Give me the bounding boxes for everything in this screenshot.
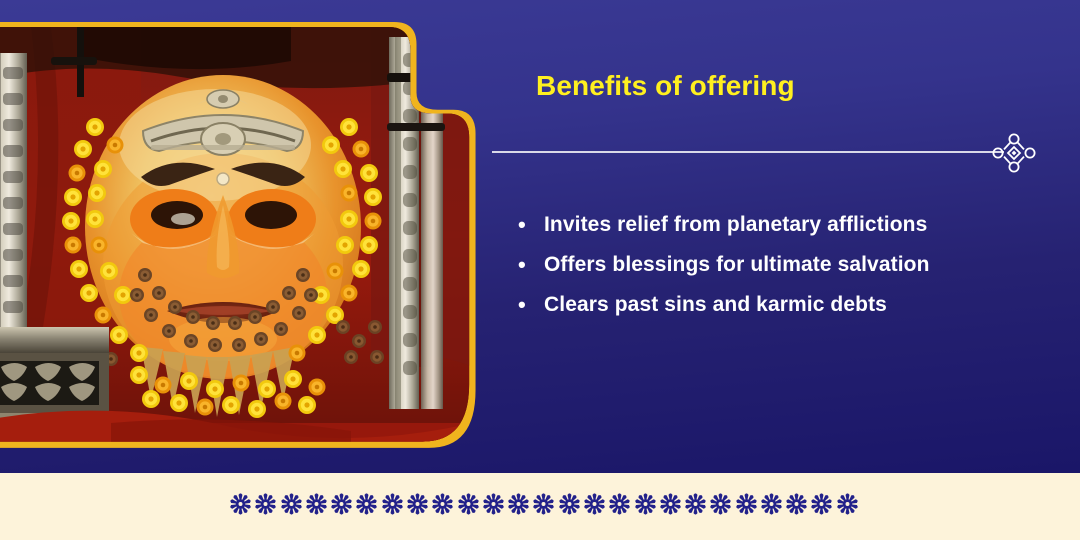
flower-ornament-icon bbox=[835, 489, 860, 519]
flower-border-band bbox=[228, 487, 860, 521]
list-item: • Clears past sins and karmic debts bbox=[518, 285, 1018, 325]
list-item-label: Clears past sins and karmic debts bbox=[544, 285, 1018, 325]
divider bbox=[492, 140, 1052, 164]
carved-silver-base bbox=[0, 327, 109, 423]
flower-ornament-icon bbox=[405, 489, 430, 519]
flower-ornament-icon bbox=[784, 489, 809, 519]
bullet-icon: • bbox=[518, 285, 544, 325]
flower-ornament-icon bbox=[354, 489, 379, 519]
flower-ornament-icon bbox=[759, 489, 784, 519]
list-item: • Invites relief from planetary afflicti… bbox=[518, 205, 1018, 245]
flower-ornament-icon bbox=[734, 489, 759, 519]
flower-ornament-icon bbox=[380, 489, 405, 519]
quatrefoil-knot-ornament-icon bbox=[992, 133, 1036, 173]
benefits-list: • Invites relief from planetary afflicti… bbox=[518, 205, 1018, 325]
flower-ornament-icon bbox=[329, 489, 354, 519]
flower-ornament-icon bbox=[228, 489, 253, 519]
flower-ornament-icon bbox=[506, 489, 531, 519]
flower-ornament-icon bbox=[279, 489, 304, 519]
slide-canvas: Benefits of offering • Invites relief fr… bbox=[0, 0, 1080, 540]
flower-ornament-icon bbox=[658, 489, 683, 519]
flower-ornament-icon bbox=[582, 489, 607, 519]
flower-ornament-icon bbox=[253, 489, 278, 519]
page-title: Benefits of offering bbox=[536, 70, 795, 102]
photo-image bbox=[0, 27, 473, 445]
list-item: • Offers blessings for ultimate salvatio… bbox=[518, 245, 1018, 285]
divider-line bbox=[492, 151, 1004, 153]
flower-ornament-icon bbox=[809, 489, 834, 519]
flower-ornament-icon bbox=[481, 489, 506, 519]
list-item-label: Offers blessings for ultimate salvation bbox=[544, 245, 1018, 285]
deity-idol-illustration bbox=[0, 27, 473, 445]
bullet-icon: • bbox=[518, 245, 544, 285]
flower-ornament-icon bbox=[633, 489, 658, 519]
flower-ornament-icon bbox=[607, 489, 632, 519]
flower-ornament-icon bbox=[683, 489, 708, 519]
flower-ornament-icon bbox=[430, 489, 455, 519]
flower-ornament-icon bbox=[557, 489, 582, 519]
flower-ornament-icon bbox=[304, 489, 329, 519]
photo-card bbox=[0, 22, 478, 450]
list-item-label: Invites relief from planetary affliction… bbox=[544, 205, 1018, 245]
flower-ornament-icon bbox=[531, 489, 556, 519]
flower-ornament-icon bbox=[708, 489, 733, 519]
bullet-icon: • bbox=[518, 205, 544, 245]
flower-ornament-icon bbox=[456, 489, 481, 519]
